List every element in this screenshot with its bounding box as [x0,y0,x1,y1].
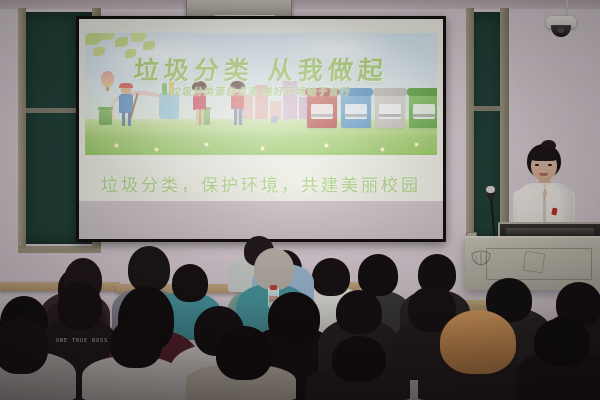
wall-shading [0,0,600,400]
classroom-photo: 垃圾分类从我做起 垃圾分类源自点滴 美好环境始于言行 垃圾分类，保护环境，共建美… [0,0,600,400]
